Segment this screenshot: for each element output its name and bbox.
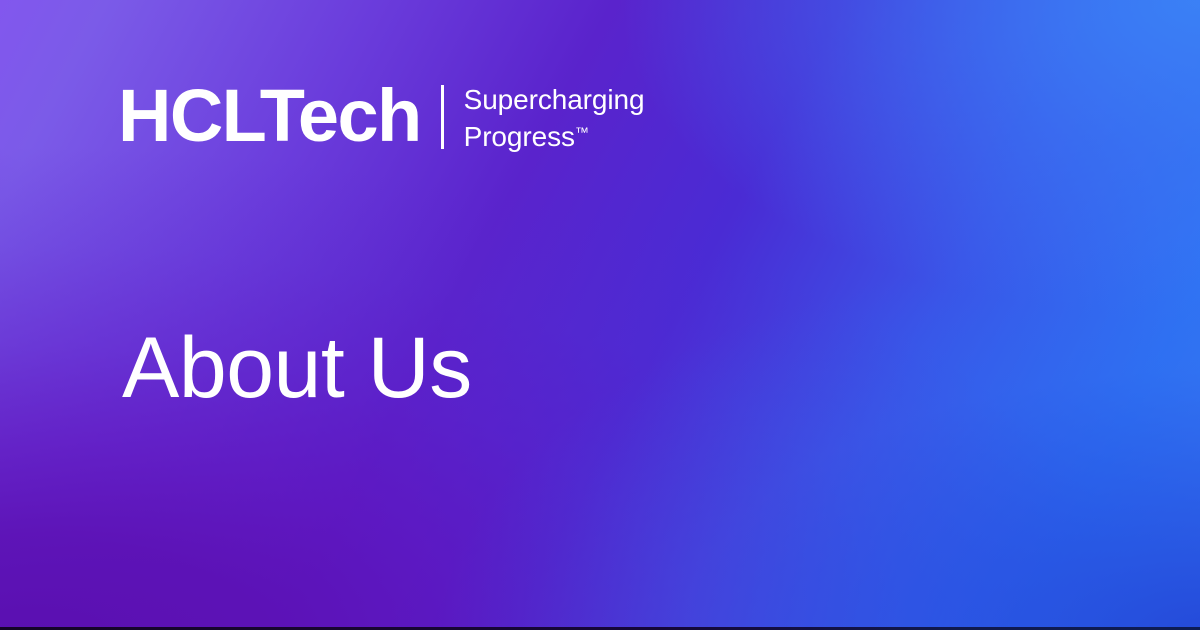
- hcltech-logo-lockup[interactable]: HCLTech Supercharging Progress™: [118, 78, 644, 154]
- banner-content: HCLTech Supercharging Progress™ About Us: [0, 0, 1200, 630]
- trademark-icon: ™: [575, 124, 589, 140]
- logo-divider-icon: [441, 85, 444, 149]
- tagline-line-two-text: Progress: [464, 121, 575, 152]
- hero-banner: HCLTech Supercharging Progress™ About Us: [0, 0, 1200, 630]
- tagline-line-one: Supercharging: [464, 83, 645, 116]
- page-title: About Us: [122, 320, 472, 416]
- hcltech-wordmark: HCLTech: [118, 78, 421, 154]
- brand-tagline: Supercharging Progress™: [464, 83, 645, 153]
- tagline-line-two: Progress™: [464, 116, 645, 153]
